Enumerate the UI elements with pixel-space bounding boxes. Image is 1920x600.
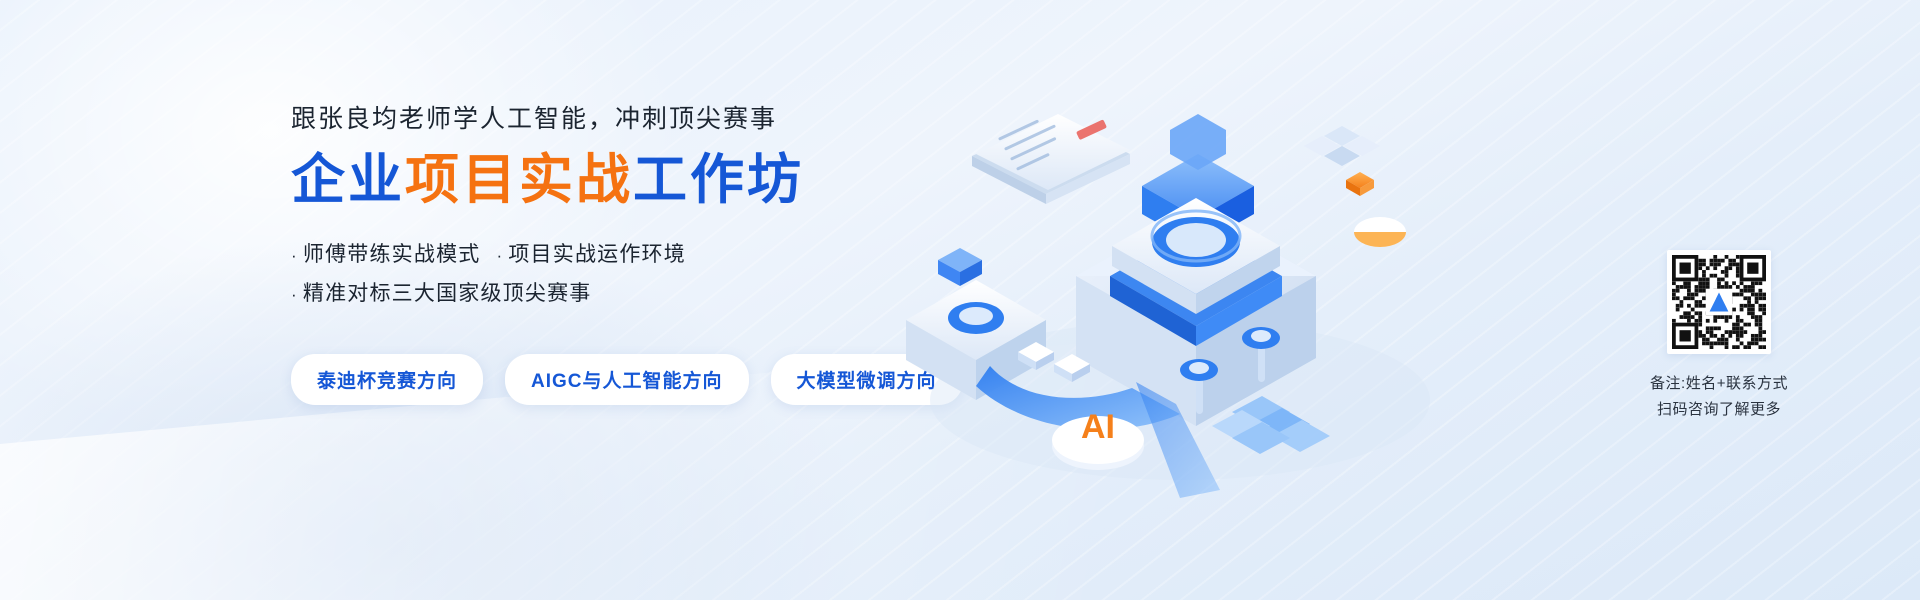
bullet-marker-icon: · bbox=[496, 246, 503, 265]
copy-block: 跟张良均老师学人工智能，冲刺顶尖赛事 企业项目实战工作坊 ·师傅带练实战模式·项… bbox=[291, 104, 931, 405]
direction-tag-group: 泰迪杯竞赛方向 AIGC与人工智能方向 大模型微调方向 bbox=[291, 354, 931, 405]
headline-segment-2: 项目实战 bbox=[405, 150, 633, 210]
headline-segment-1: 企业 bbox=[291, 150, 405, 210]
tag-aigc-ai[interactable]: AIGC与人工智能方向 bbox=[505, 354, 749, 405]
isometric-illustration: AI bbox=[880, 70, 1460, 500]
bullet-text-2: 项目实战运作环境 bbox=[508, 243, 686, 266]
bullet-marker-icon: · bbox=[291, 246, 298, 265]
decorative-shapes-topright bbox=[1304, 126, 1406, 247]
bullet-marker-icon: · bbox=[291, 285, 298, 304]
feature-bullet-list: ·师傅带练实战模式·项目实战运作环境 ·精准对标三大国家级顶尖赛事 bbox=[291, 236, 931, 314]
tag-taidi-competition[interactable]: 泰迪杯竞赛方向 bbox=[291, 354, 483, 405]
banner-headline: 企业项目实战工作坊 bbox=[291, 150, 931, 210]
qr-block: 备注:姓名+联系方式 扫码咨询了解更多 bbox=[1634, 250, 1804, 423]
qr-caption-line-1: 备注:姓名+联系方式 bbox=[1634, 371, 1804, 397]
qr-code-image[interactable] bbox=[1667, 250, 1771, 354]
qr-caption: 备注:姓名+联系方式 扫码咨询了解更多 bbox=[1634, 371, 1804, 423]
document-card-stack bbox=[972, 114, 1130, 204]
banner-subtitle: 跟张良均老师学人工智能，冲刺顶尖赛事 bbox=[291, 104, 931, 134]
bullet-line-1: ·师傅带练实战模式·项目实战运作环境 bbox=[291, 236, 931, 275]
bullet-line-2: ·精准对标三大国家级顶尖赛事 bbox=[291, 275, 931, 314]
promo-banner: 跟张良均老师学人工智能，冲刺顶尖赛事 企业项目实战工作坊 ·师傅带练实战模式·项… bbox=[0, 0, 1920, 600]
qr-caption-line-2: 扫码咨询了解更多 bbox=[1634, 397, 1804, 423]
bullet-text-1: 师傅带练实战模式 bbox=[303, 243, 481, 266]
ai-label: AI bbox=[1081, 408, 1115, 446]
bullet-text-3: 精准对标三大国家级顶尖赛事 bbox=[303, 282, 592, 305]
headline-segment-3: 工作坊 bbox=[633, 150, 804, 210]
